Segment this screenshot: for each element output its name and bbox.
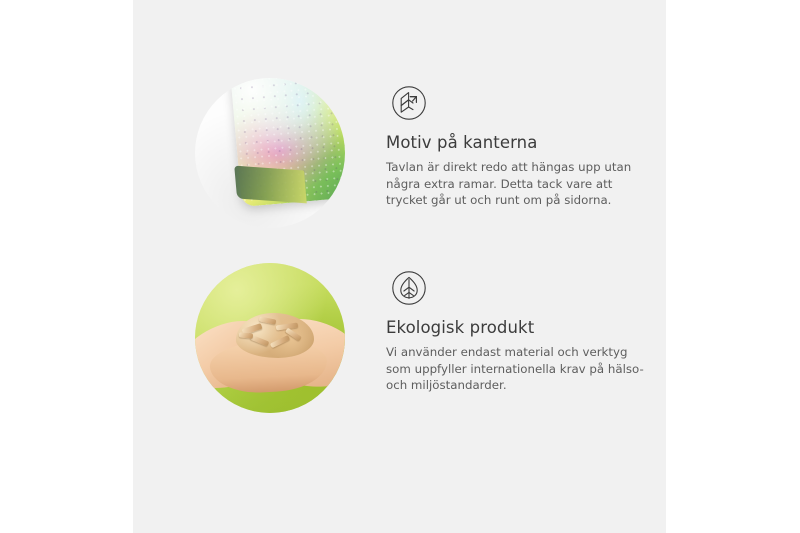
wood-chip [270,334,291,348]
feature-title: Ekologisk produkt [386,317,656,339]
feature-description: Vi använder endast material och verktyg … [386,344,656,394]
grass-backdrop [195,263,345,413]
canvas-print-corner-photo [195,78,345,228]
canvas-wrapped-edge-icon [388,82,430,124]
product-feature-panel: Motiv på kanterna Tavlan är direkt redo … [0,0,800,533]
content-panel: Motiv på kanterna Tavlan är direkt redo … [133,0,666,533]
feature-block-motiv-pa-kanterna: Motiv på kanterna Tavlan är direkt redo … [133,70,666,260]
wood-chip [238,332,252,338]
hands-holding-wood-chips-photo [195,263,345,413]
leaf-icon [388,267,430,309]
wood-chip [259,316,277,325]
canvas-photo-backdrop [195,78,345,228]
canvas-print-side-edge [234,166,307,204]
feature-title: Motiv på kanterna [386,132,656,154]
feature-text-column: Motiv på kanterna Tavlan är direkt redo … [386,132,656,209]
feature-text-column: Ekologisk produkt Vi använder endast mat… [386,317,656,394]
feature-description: Tavlan är direkt redo att hängas upp uta… [386,159,656,209]
feature-block-ekologisk-produkt: Ekologisk produkt Vi använder endast mat… [133,255,666,445]
